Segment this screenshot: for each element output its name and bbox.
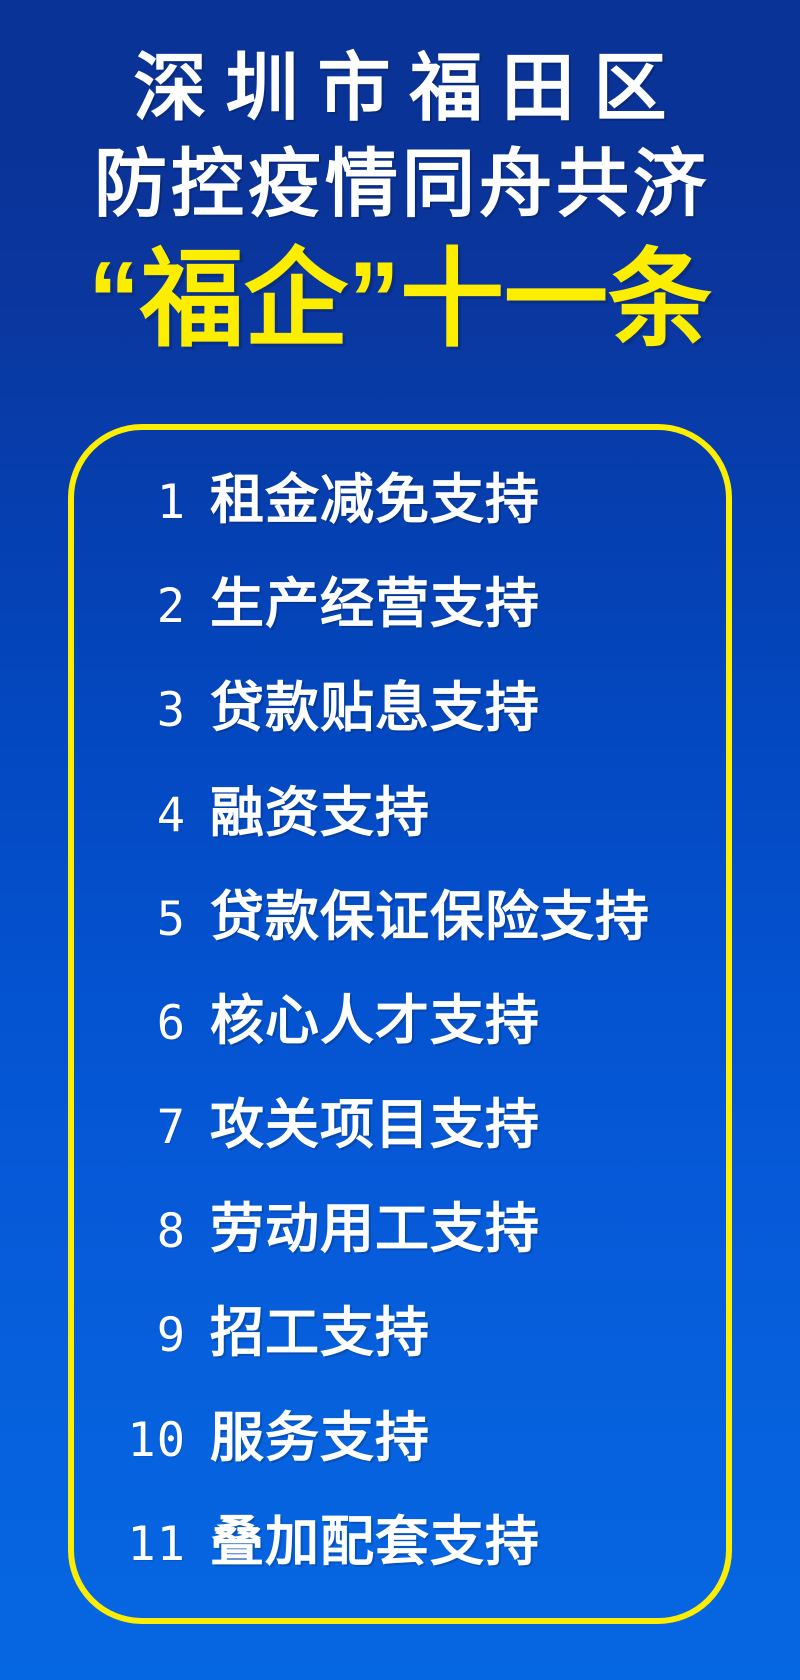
- list-item-label: 融资支持: [210, 786, 430, 840]
- list-item-number: 7: [68, 1104, 186, 1151]
- list-item[interactable]: 11叠加配套支持: [68, 1515, 732, 1577]
- list-item[interactable]: 1租金减免支持: [68, 473, 732, 535]
- list-item[interactable]: 6核心人才支持: [68, 994, 732, 1056]
- list-item-label: 贷款保证保险支持: [210, 890, 650, 944]
- list-item[interactable]: 10服务支持: [68, 1411, 732, 1473]
- list-item[interactable]: 2生产经营支持: [68, 577, 732, 639]
- list-item-number: 9: [68, 1312, 186, 1359]
- list-item[interactable]: 5贷款保证保险支持: [68, 890, 732, 952]
- list-item-label: 租金减免支持: [210, 473, 540, 527]
- title-line-main: “福企”十一条: [0, 246, 800, 353]
- policy-list: 1租金减免支持2生产经营支持3贷款贴息支持4融资支持5贷款保证保险支持6核心人才…: [68, 424, 732, 1624]
- list-item-number: 6: [68, 1000, 186, 1047]
- list-item-label: 贷款贴息支持: [210, 681, 540, 735]
- poster-root: 深圳市福田区 防控疫情同舟共济 “福企”十一条 1租金减免支持2生产经营支持3贷…: [0, 0, 800, 1680]
- list-item-label: 服务支持: [210, 1411, 430, 1465]
- list-item-number: 5: [68, 896, 186, 943]
- list-item-label: 攻关项目支持: [210, 1098, 540, 1152]
- list-item[interactable]: 9招工支持: [68, 1306, 732, 1368]
- list-item-label: 劳动用工支持: [210, 1202, 540, 1256]
- list-item-number: 10: [68, 1417, 186, 1464]
- title-line-slogan: 防控疫情同舟共济: [0, 147, 800, 221]
- list-item-number: 11: [68, 1521, 186, 1568]
- list-item-number: 3: [68, 687, 186, 734]
- list-item[interactable]: 7攻关项目支持: [68, 1098, 732, 1160]
- list-item-label: 招工支持: [210, 1306, 430, 1360]
- title-line-district: 深圳市福田区: [0, 51, 800, 125]
- list-item-number: 2: [68, 583, 186, 630]
- list-item[interactable]: 8劳动用工支持: [68, 1202, 732, 1264]
- list-item-number: 4: [68, 792, 186, 839]
- list-item[interactable]: 4融资支持: [68, 786, 732, 848]
- list-item-label: 生产经营支持: [210, 577, 540, 631]
- list-item-label: 核心人才支持: [210, 994, 540, 1048]
- list-item-number: 1: [68, 479, 186, 526]
- list-item-label: 叠加配套支持: [210, 1515, 540, 1569]
- list-item-number: 8: [68, 1208, 186, 1255]
- list-item[interactable]: 3贷款贴息支持: [68, 681, 732, 743]
